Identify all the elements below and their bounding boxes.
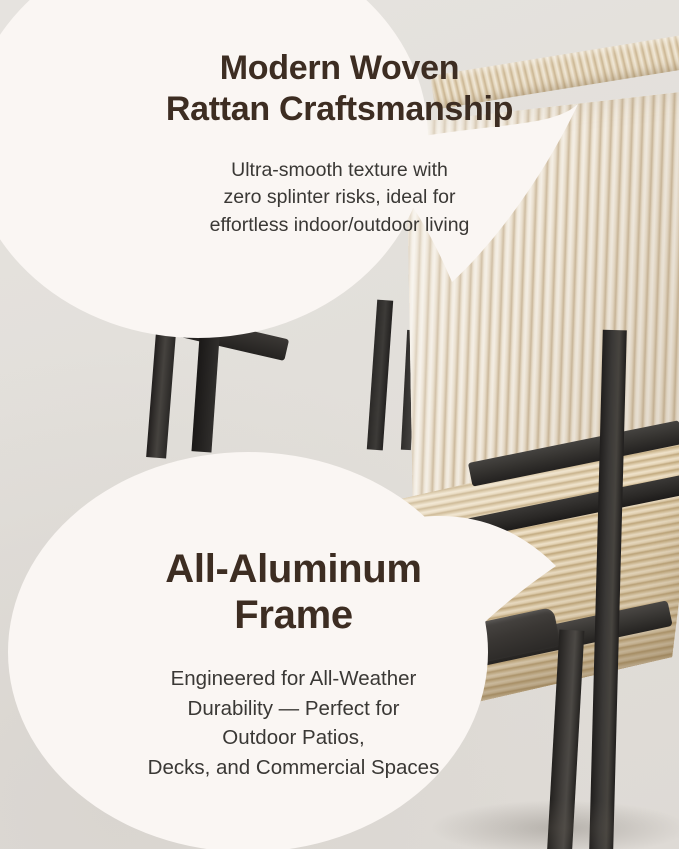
bottom-callout-body: Engineered for All-Weather Durability — … bbox=[0, 664, 633, 783]
infographic-canvas: Modern Woven Rattan Craftsmanship Ultra-… bbox=[0, 0, 679, 849]
bottom-callout-headline: All-Aluminum Frame bbox=[0, 546, 633, 638]
bottom-callout-content: All-Aluminum Frame Engineered for All-We… bbox=[0, 546, 633, 783]
